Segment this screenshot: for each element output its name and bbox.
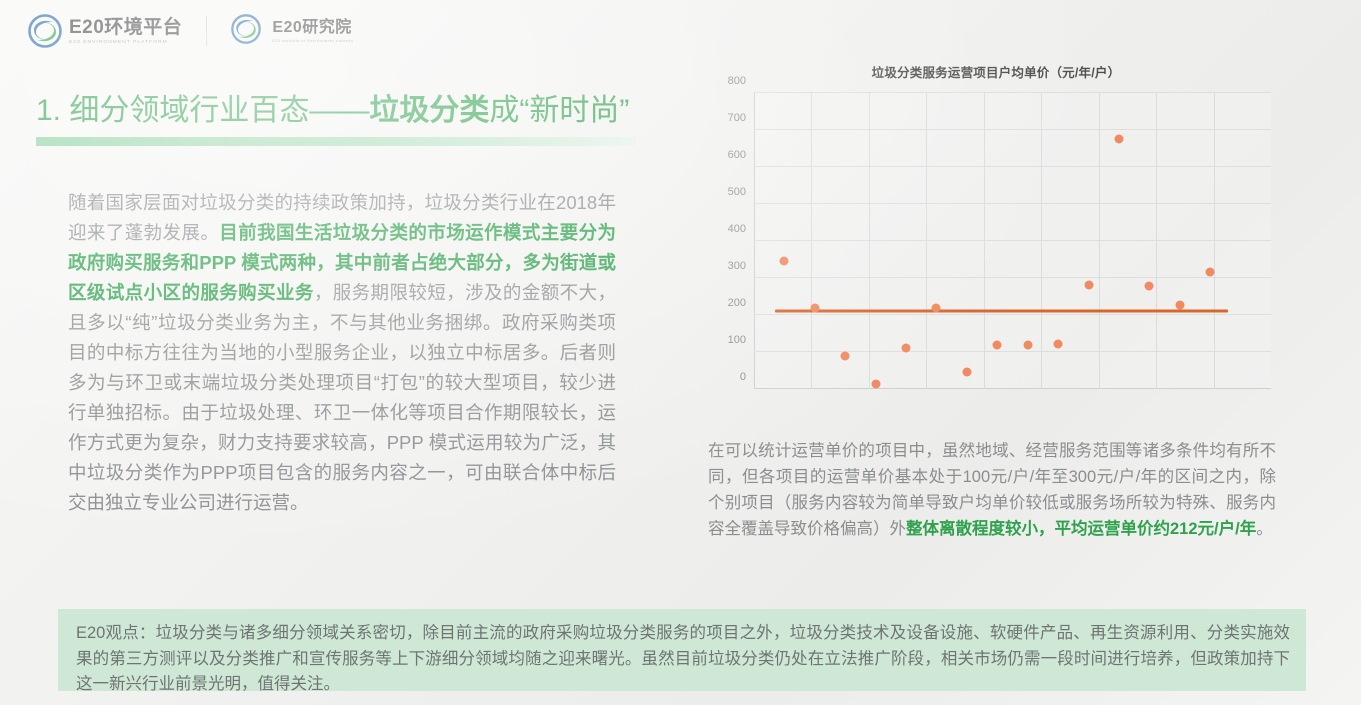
logo-secondary-subtitle: E20 Institute of Environment Industry bbox=[272, 39, 354, 43]
chart-data-point bbox=[993, 340, 1002, 349]
chart-data-point bbox=[902, 344, 911, 353]
chart-data-point bbox=[1145, 281, 1154, 290]
scatter-chart: 垃圾分类服务运营项目户均单价（元/年/户） 010020030040050060… bbox=[706, 62, 1286, 412]
chart-data-point bbox=[962, 368, 971, 377]
left-body-paragraph: 随着国家层面对垃圾分类的持续政策加持，垃圾分类行业在2018年迎来了蓬勃发展。目… bbox=[68, 188, 616, 518]
e20-viewpoint-text: E20观点：垃圾分类与诸多细分领域关系密切，除目前主流的政府采购垃圾分类服务的项… bbox=[76, 621, 1290, 698]
right-text-highlight: 整体离散程度较小，平均运营单价约212元/户/年 bbox=[906, 520, 1256, 538]
gridline-horizontal bbox=[754, 203, 1271, 204]
logo-divider bbox=[206, 16, 207, 46]
brand-logo-bar: E20环境平台 E20 ENVIRONMENT PLATFORM E20研究院 … bbox=[28, 14, 356, 48]
gridline-horizontal bbox=[754, 277, 1271, 278]
gridline-vertical bbox=[811, 93, 812, 389]
e20-swirl-logo-icon bbox=[28, 14, 62, 48]
gridline-vertical bbox=[926, 93, 927, 389]
chart-data-point bbox=[810, 304, 819, 313]
page-title: 1. 细分领域行业百态——垃圾分类成“新时尚” bbox=[36, 92, 656, 130]
gridline-vertical bbox=[1214, 93, 1215, 389]
gridline-horizontal bbox=[754, 351, 1271, 352]
chart-data-point bbox=[780, 257, 789, 266]
logo-e20-environment-platform: E20环境平台 E20 ENVIRONMENT PLATFORM bbox=[28, 14, 182, 48]
y-axis-tick-label: 200 bbox=[728, 297, 746, 309]
chart-data-point bbox=[871, 380, 880, 389]
y-axis-tick-label: 700 bbox=[728, 112, 746, 124]
y-axis-tick-label: 800 bbox=[728, 75, 746, 87]
y-axis-tick-label: 400 bbox=[728, 223, 746, 235]
chart-data-point bbox=[1114, 134, 1123, 143]
e20-swirl-logo-icon bbox=[231, 14, 265, 48]
chart-data-point bbox=[1084, 280, 1093, 289]
logo-primary-subtitle: E20 ENVIRONMENT PLATFORM bbox=[69, 40, 179, 45]
e20-viewpoint-box: E20观点：垃圾分类与诸多细分领域关系密切，除目前主流的政府采购垃圾分类服务的项… bbox=[58, 609, 1306, 691]
gridline-horizontal bbox=[754, 314, 1271, 315]
chart-data-point bbox=[1175, 300, 1184, 309]
gridline-vertical bbox=[984, 93, 985, 389]
average-reference-line bbox=[775, 309, 1228, 312]
right-body-paragraph: 在可以统计运营单价的项目中，虽然地域、经营服务范围等诸多条件均有所不同，但各项目… bbox=[708, 438, 1276, 542]
title-part-2: 垃圾分类 bbox=[369, 94, 489, 127]
gridline-horizontal bbox=[754, 166, 1271, 167]
logo-secondary-name: E20研究院 bbox=[272, 20, 356, 36]
title-underline-bar bbox=[36, 137, 636, 146]
chart-data-point bbox=[1023, 341, 1032, 350]
y-axis-tick-label: 300 bbox=[728, 260, 746, 272]
gridline-vertical bbox=[1041, 93, 1042, 389]
chart-data-point bbox=[1206, 267, 1215, 276]
y-axis-tick-label: 100 bbox=[728, 334, 746, 346]
title-part-1: 细分领域行业百态—— bbox=[69, 94, 369, 127]
chart-data-point bbox=[932, 304, 941, 313]
chart-plot-area: 0100200300400500600700800 bbox=[754, 93, 1271, 389]
gridline-vertical bbox=[869, 93, 870, 389]
title-index: 1. bbox=[36, 94, 61, 127]
gridline-horizontal bbox=[754, 129, 1271, 130]
y-axis-tick-label: 500 bbox=[728, 186, 746, 198]
slide-background: E20环境平台 E20 ENVIRONMENT PLATFORM E20研究院 … bbox=[0, 0, 1361, 705]
section-title-block: 1. 细分领域行业百态——垃圾分类成“新时尚” bbox=[36, 92, 656, 146]
gridline-horizontal bbox=[754, 92, 1271, 93]
gridline-vertical bbox=[1099, 93, 1100, 389]
chart-title: 垃圾分类服务运营项目户均单价（元/年/户） bbox=[706, 62, 1286, 81]
y-axis-tick-label: 600 bbox=[728, 149, 746, 161]
chart-data-point bbox=[1054, 340, 1063, 349]
chart-data-point bbox=[841, 352, 850, 361]
y-axis-tick-label: 0 bbox=[740, 371, 746, 383]
gridline-horizontal bbox=[754, 240, 1271, 241]
gridline-vertical bbox=[1156, 93, 1157, 389]
logo-e20-institute: E20研究院 E20 Institute of Environment Indu… bbox=[231, 14, 356, 48]
logo-primary-name: E20环境平台 bbox=[69, 18, 182, 37]
title-part-3: 成“新时尚” bbox=[489, 94, 629, 127]
chart-frame bbox=[754, 93, 1271, 389]
left-text-segment-2: ，服务期限较短，涉及的金额不大，且多以“纯”垃圾分类业务为主，不与其他业务捆绑。… bbox=[68, 282, 616, 513]
right-text-segment-2: 。 bbox=[1256, 520, 1273, 538]
